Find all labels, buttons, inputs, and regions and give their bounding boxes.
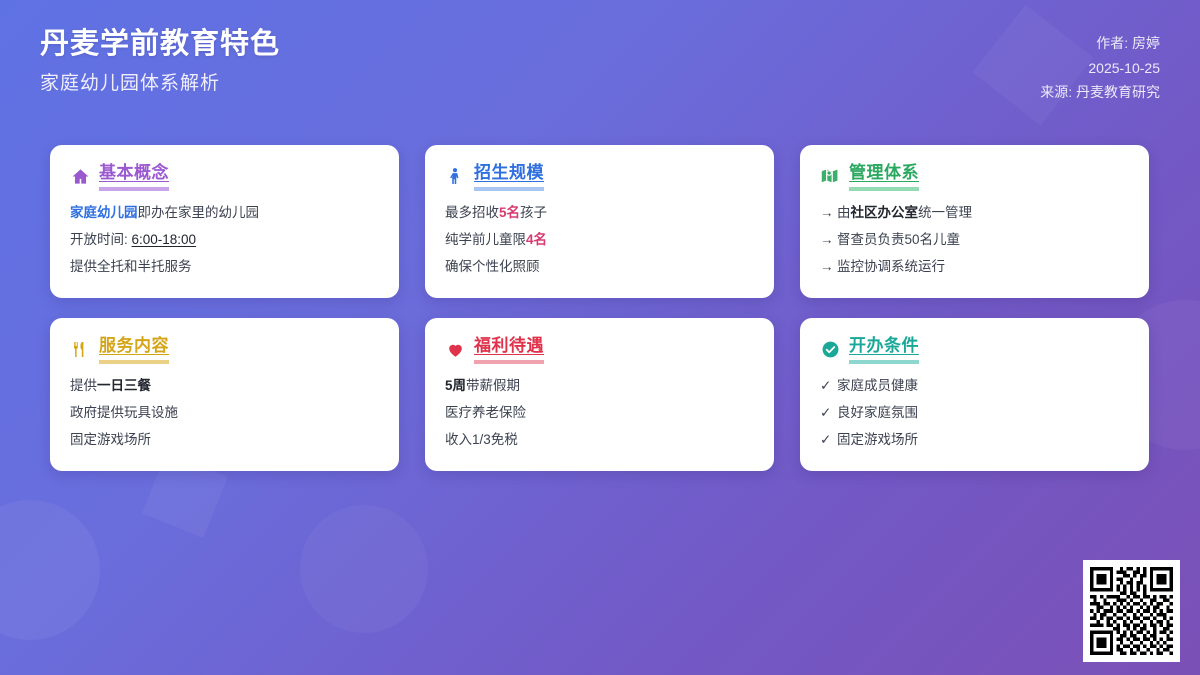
card-line: →由社区办公室统一管理 xyxy=(820,204,1129,222)
card-header: 招生规模 xyxy=(445,163,754,191)
line-text: 4名 xyxy=(526,232,547,247)
card-line: 最多招收5名孩子 xyxy=(445,204,754,222)
source-text: 来源: 丹麦教育研究 xyxy=(1040,84,1160,102)
line-text: 最多招收 xyxy=(445,205,499,220)
card-福利待遇[interactable]: 福利待遇5周带薪假期医疗养老保险收入1/3免税 xyxy=(425,318,774,471)
line-text: 5名 xyxy=(499,205,520,220)
line-text: 由 xyxy=(837,205,851,220)
card-line: ✓良好家庭氛围 xyxy=(820,404,1129,422)
home-icon xyxy=(70,167,90,187)
line-text: 家庭幼儿园 xyxy=(70,205,138,220)
card-title: 福利待遇 xyxy=(474,336,544,364)
card-title: 基本概念 xyxy=(99,163,169,191)
line-text: 孩子 xyxy=(520,205,547,220)
card-title: 开办条件 xyxy=(849,336,919,364)
card-body: ✓家庭成员健康✓良好家庭氛围✓固定游戏场所 xyxy=(820,377,1129,450)
card-header: 管理体系 xyxy=(820,163,1129,191)
card-管理体系[interactable]: 管理体系→由社区办公室统一管理→督查员负责50名儿童→监控协调系统运行 xyxy=(800,145,1149,298)
card-line: 提供一日三餐 xyxy=(70,377,379,395)
card-header: 开办条件 xyxy=(820,336,1129,364)
line-text: 政府提供玩具设施 xyxy=(70,405,178,420)
bullet-marker: ✓ xyxy=(820,377,837,395)
line-text: 固定游戏场所 xyxy=(70,432,151,447)
line-text: 统一管理 xyxy=(918,205,972,220)
card-服务内容[interactable]: 服务内容提供一日三餐政府提供玩具设施固定游戏场所 xyxy=(50,318,399,471)
author-text: 作者: 房婷 xyxy=(1040,35,1160,53)
card-line: 医疗养老保险 xyxy=(445,404,754,422)
card-line: →督查员负责50名儿童 xyxy=(820,231,1129,249)
card-line: 5周带薪假期 xyxy=(445,377,754,395)
header-meta: 作者: 房婷 2025-10-25 来源: 丹麦教育研究 xyxy=(1040,26,1160,102)
card-header: 福利待遇 xyxy=(445,336,754,364)
card-line: 纯学前儿童限4名 xyxy=(445,231,754,249)
page-subtitle: 家庭幼儿园体系解析 xyxy=(40,72,280,97)
card-line: 确保个性化照顾 xyxy=(445,258,754,276)
line-text: 固定游戏场所 xyxy=(837,432,918,447)
line-text: 6:00-18:00 xyxy=(132,232,197,247)
line-text: 即办在家里的幼儿园 xyxy=(138,205,260,220)
line-text: 社区办公室 xyxy=(851,205,919,220)
child-person-icon xyxy=(445,167,465,187)
card-line: 家庭幼儿园即办在家里的幼儿园 xyxy=(70,204,379,222)
card-line: 开放时间: 6:00-18:00 xyxy=(70,231,379,249)
date-text: 2025-10-25 xyxy=(1040,60,1160,78)
card-header: 基本概念 xyxy=(70,163,379,191)
line-text: 医疗养老保险 xyxy=(445,405,526,420)
bullet-marker: → xyxy=(820,204,837,222)
card-line: 政府提供玩具设施 xyxy=(70,404,379,422)
card-title: 服务内容 xyxy=(99,336,169,364)
heart-icon xyxy=(445,340,465,360)
line-text: 5周 xyxy=(445,378,466,393)
line-text: 收入1/3免税 xyxy=(445,432,518,447)
line-text: 监控协调系统运行 xyxy=(837,259,945,274)
title-block: 丹麦学前教育特色 家庭幼儿园体系解析 xyxy=(40,26,280,97)
line-text: 纯学前儿童限 xyxy=(445,232,526,247)
card-line: 提供全托和半托服务 xyxy=(70,258,379,276)
decorative-circle-2 xyxy=(300,505,428,633)
line-text: 督查员负责50名儿童 xyxy=(837,232,960,247)
line-text: 带薪假期 xyxy=(466,378,520,393)
decorative-circle-1 xyxy=(0,500,100,640)
cards-grid: 基本概念家庭幼儿园即办在家里的幼儿园开放时间: 6:00-18:00提供全托和半… xyxy=(50,145,1150,471)
line-text: 一日三餐 xyxy=(97,378,151,393)
card-body: 家庭幼儿园即办在家里的幼儿园开放时间: 6:00-18:00提供全托和半托服务 xyxy=(70,204,379,277)
bullet-marker: → xyxy=(820,258,837,276)
qr-code[interactable] xyxy=(1083,560,1180,662)
card-body: 5周带薪假期医疗养老保险收入1/3免税 xyxy=(445,377,754,450)
card-title: 招生规模 xyxy=(474,163,544,191)
card-body: 提供一日三餐政府提供玩具设施固定游戏场所 xyxy=(70,377,379,450)
card-body: →由社区办公室统一管理→督查员负责50名儿童→监控协调系统运行 xyxy=(820,204,1129,277)
card-开办条件[interactable]: 开办条件✓家庭成员健康✓良好家庭氛围✓固定游戏场所 xyxy=(800,318,1149,471)
card-line: →监控协调系统运行 xyxy=(820,258,1129,276)
line-text: 家庭成员健康 xyxy=(837,378,918,393)
bullet-marker: → xyxy=(820,231,837,249)
line-text: 良好家庭氛围 xyxy=(837,405,918,420)
card-招生规模[interactable]: 招生规模最多招收5名孩子纯学前儿童限4名确保个性化照顾 xyxy=(425,145,774,298)
card-line: ✓固定游戏场所 xyxy=(820,431,1129,449)
line-text: 开放时间: xyxy=(70,232,132,247)
card-header: 服务内容 xyxy=(70,336,379,364)
utensils-icon xyxy=(70,340,90,360)
card-基本概念[interactable]: 基本概念家庭幼儿园即办在家里的幼儿园开放时间: 6:00-18:00提供全托和半… xyxy=(50,145,399,298)
card-line: ✓家庭成员健康 xyxy=(820,377,1129,395)
bullet-marker: ✓ xyxy=(820,431,837,449)
map-marker-icon xyxy=(820,167,840,187)
check-circle-icon xyxy=(820,340,840,360)
bullet-marker: ✓ xyxy=(820,404,837,422)
line-text: 确保个性化照顾 xyxy=(445,259,540,274)
line-text: 提供 xyxy=(70,378,97,393)
page-title: 丹麦学前教育特色 xyxy=(40,26,280,62)
card-body: 最多招收5名孩子纯学前儿童限4名确保个性化照顾 xyxy=(445,204,754,277)
line-text: 提供全托和半托服务 xyxy=(70,259,192,274)
page-header: 丹麦学前教育特色 家庭幼儿园体系解析 作者: 房婷 2025-10-25 来源:… xyxy=(0,0,1200,128)
card-line: 固定游戏场所 xyxy=(70,431,379,449)
qr-code-image xyxy=(1090,567,1173,655)
card-title: 管理体系 xyxy=(849,163,919,191)
card-line: 收入1/3免税 xyxy=(445,431,754,449)
